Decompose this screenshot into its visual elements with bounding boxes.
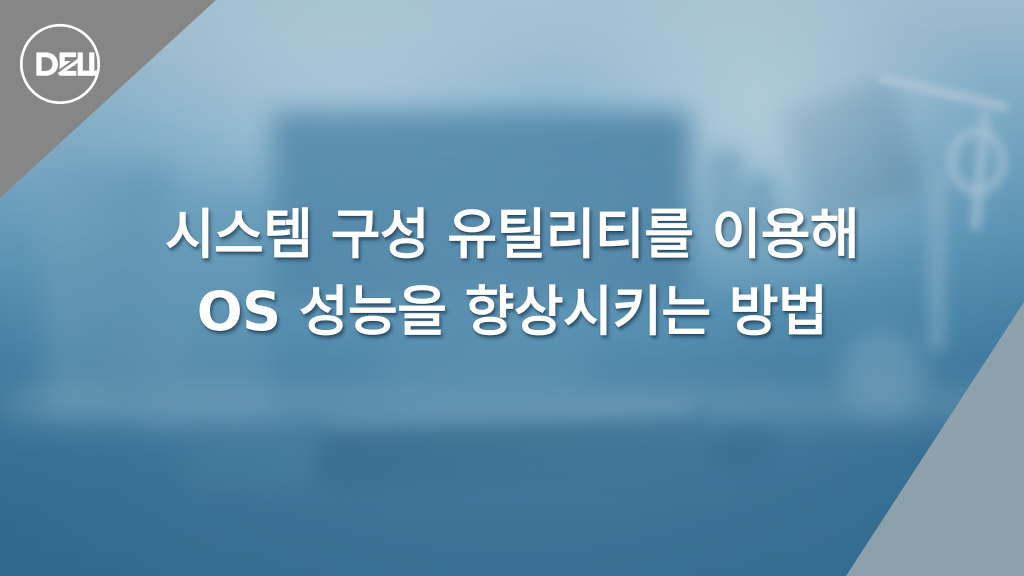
title-line-1: 시스템 구성 유틸리티를 이용해: [0, 196, 1024, 273]
dell-logo-icon: [17, 21, 103, 107]
banner-title: 시스템 구성 유틸리티를 이용해 OS 성능을 향상시키는 방법: [0, 196, 1024, 350]
banner-card: 시스템 구성 유틸리티를 이용해 OS 성능을 향상시키는 방법: [0, 0, 1024, 576]
dell-logo: [17, 21, 103, 107]
title-line-2: OS 성능을 향상시키는 방법: [0, 273, 1024, 350]
